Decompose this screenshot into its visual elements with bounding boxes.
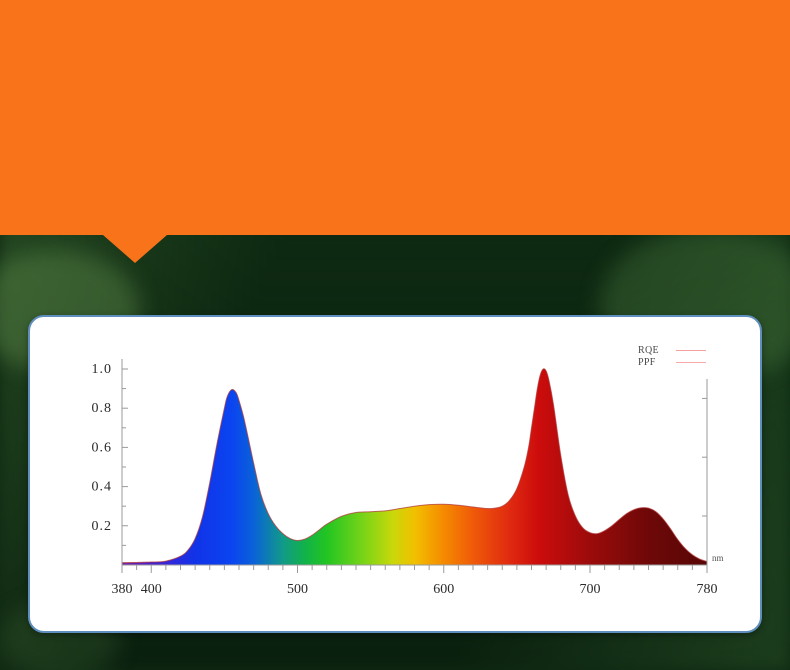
x-tick-label: 380 [112, 582, 133, 597]
x-axis-unit-label: nm [712, 553, 724, 563]
legend-label-rqe: RQE [638, 345, 668, 356]
chart-legend: RQE PPF [638, 344, 706, 368]
legend-swatch-rqe [676, 350, 706, 351]
legend-item-ppf: PPF [638, 356, 706, 368]
chart-canvas: 0.20.40.60.81.0380400500600700780 RQE PP… [30, 317, 759, 630]
y-tick-label: 1.0 [92, 362, 113, 377]
x-tick-label: 600 [433, 582, 454, 597]
x-tick-label: 780 [697, 582, 718, 597]
y-tick-label: 0.2 [92, 519, 113, 534]
x-tick-label: 700 [580, 582, 601, 597]
legend-item-rqe: RQE [638, 344, 706, 356]
spectrum-chart-card: 0.20.40.60.81.0380400500600700780 RQE PP… [28, 315, 762, 633]
spectrum-area-fill [122, 369, 707, 565]
header-pointer-triangle [103, 235, 167, 263]
x-tick-label: 400 [141, 582, 162, 597]
x-tick-label: 500 [287, 582, 308, 597]
header-banner [0, 0, 790, 235]
legend-swatch-ppf [676, 362, 706, 363]
spectrum-promo-page: 光谱配比图 定制的全光谱LED植物光敏灯珠+品牌电源(可搭配三星灯珠明纬电源方案… [0, 0, 790, 670]
y-tick-label: 0.6 [92, 440, 113, 455]
legend-label-ppf: PPF [638, 357, 668, 368]
y-tick-label: 0.4 [92, 480, 113, 495]
y-tick-label: 0.8 [92, 401, 113, 416]
